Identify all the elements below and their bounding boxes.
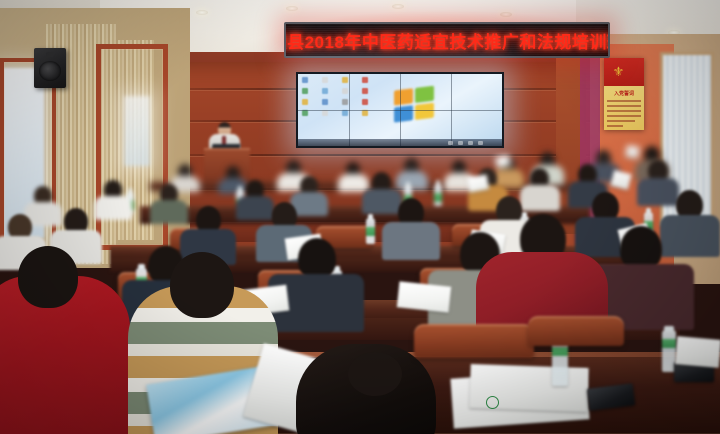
poster-body: 入党誓词: [604, 86, 644, 130]
folder-logo-icon: [486, 396, 499, 409]
downlight: [392, 4, 404, 9]
chair-back: [414, 324, 534, 358]
speaker-tweeter: [46, 52, 54, 57]
poster-title: 入党誓词: [604, 90, 644, 97]
led-banner-text: 澧县2018年中医药适宜技术推广和法规培训班: [284, 28, 610, 53]
taskbar: [298, 139, 502, 146]
led-banner: 澧县2018年中医药适宜技术推广和法规培训班: [284, 22, 610, 58]
conference-room-photo: ⚜ 入党誓词 澧县2018年中医药适宜技术推广和法规培训班: [0, 0, 720, 434]
handout-papers: [675, 336, 720, 368]
speaker-cone: [39, 61, 61, 81]
desktop-icon-grid: [302, 77, 380, 139]
hammer-and-sickle-icon: ⚜: [611, 64, 626, 79]
downlight: [286, 6, 298, 11]
left-window: [124, 96, 150, 166]
downlight: [196, 10, 208, 15]
poster-header: ⚜: [604, 58, 644, 86]
chair-back: [528, 316, 624, 346]
downlight: [500, 12, 512, 17]
party-oath-poster: ⚜ 入党誓词: [604, 58, 644, 130]
video-wall-display: [296, 72, 504, 148]
wall-speaker: [34, 48, 66, 88]
